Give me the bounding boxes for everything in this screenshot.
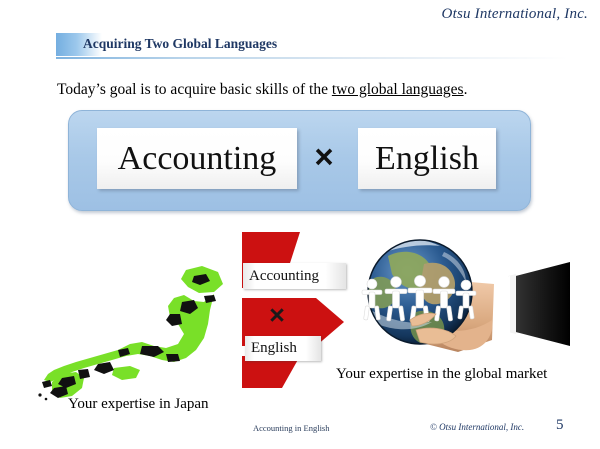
arrow-label-accounting: Accounting [243,263,346,289]
globe-in-hand-image [358,234,570,366]
global-caption: Your expertise in the global market [336,366,547,383]
footer-page-number: 5 [556,417,564,434]
page-title: Acquiring Two Global Languages [83,36,277,52]
slide: Otsu International, Inc. Acquiring Two G… [0,0,600,449]
lead-text-after: . [464,81,468,98]
red-arrow-shape [238,230,348,390]
lead-sentence: Today’s goal is to acquire basic skills … [57,81,467,99]
panel-word-english: English [358,128,496,189]
title-divider [56,57,568,59]
footer-document-title: Accounting in English [253,423,330,433]
lead-underlined-phrase: two global languages [332,81,464,98]
panel-word-accounting: Accounting [97,128,297,189]
japan-map-image [18,262,238,407]
arrow-multiply-icon: × [262,300,292,330]
company-name: Otsu International, Inc. [442,6,588,23]
japan-caption: Your expertise in Japan [68,396,209,413]
footer-copyright: © Otsu International, Inc. [430,422,524,432]
arrow-label-english: English [245,336,321,361]
lead-text-before: Today’s goal is to acquire basic skills … [57,81,332,98]
multiply-icon: × [307,140,341,174]
